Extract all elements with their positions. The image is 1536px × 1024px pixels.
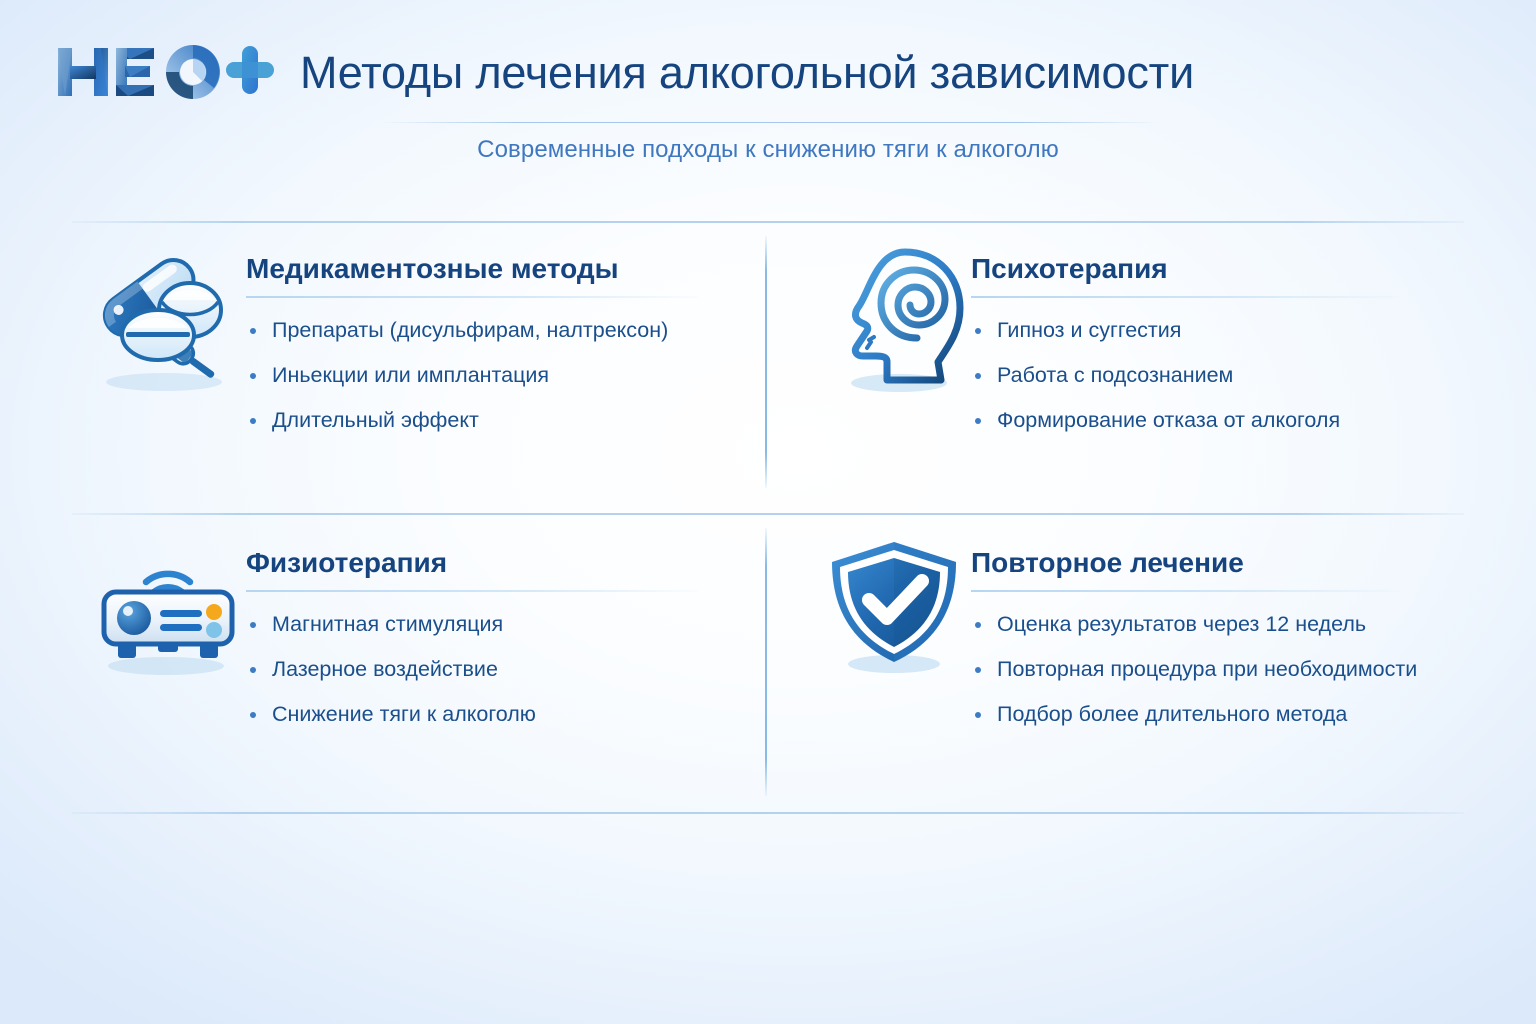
card-physiotherapy: Физиотерапия Магнитная стимуляция Лазерн…: [72, 512, 765, 806]
list-item: Подбор более длительного метода: [971, 700, 1464, 728]
card-bullet-list: Оценка результатов через 12 недель Повто…: [971, 592, 1464, 728]
logo-letter-e: [116, 48, 154, 96]
section-divider-bottom: [72, 812, 1464, 814]
card-title: Повторное лечение: [971, 546, 1464, 580]
card-title: Психотерапия: [971, 252, 1464, 286]
therapy-device-icon: [86, 534, 246, 694]
card-body: Медикаментозные методы Препараты (дисуль…: [246, 240, 765, 434]
brand-logo: [56, 38, 286, 104]
card-repeat-treatment: Повторное лечение Оценка результатов чер…: [771, 512, 1464, 806]
list-item: Магнитная стимуляция: [246, 610, 765, 638]
card-bullet-list: Препараты (дисульфирам, налтрексон) Инье…: [246, 298, 765, 434]
card-bullet-list: Магнитная стимуляция Лазерное воздействи…: [246, 592, 765, 728]
card-body: Психотерапия Гипноз и суггестия Работа с…: [971, 240, 1464, 434]
section-divider-top: [72, 221, 1464, 223]
page-title: Методы лечения алкогольной зависимости: [300, 44, 1400, 102]
list-item: Препараты (дисульфирам, налтрексон): [246, 316, 765, 344]
shield-check-icon: [821, 534, 971, 694]
card-body: Физиотерапия Магнитная стимуляция Лазерн…: [246, 534, 765, 728]
logo-letter-n: [58, 48, 108, 96]
pills-syringe-icon: [86, 240, 246, 400]
list-item: Гипноз и суггестия: [971, 316, 1464, 344]
logo-plus-icon: [226, 46, 274, 94]
tablet-scored-shape: [122, 310, 194, 360]
list-item: Лазерное воздействие: [246, 655, 765, 683]
card-title: Физиотерапия: [246, 546, 765, 580]
header-divider: [380, 122, 1160, 123]
list-item: Снижение тяги к алкоголю: [246, 700, 765, 728]
card-medication: Медикаментозные методы Препараты (дисуль…: [72, 240, 765, 512]
list-item: Длительный эффект: [246, 406, 765, 434]
infographic-poster: Методы лечения алкогольной зависимости С…: [0, 0, 1536, 1024]
logo-letter-o: [166, 45, 220, 99]
list-item: Повторная процедура при необходимости: [971, 655, 1464, 683]
list-item: Оценка результатов через 12 недель: [971, 610, 1464, 638]
page-subtitle: Современные подходы к снижению тяги к ал…: [0, 136, 1536, 164]
card-title: Медикаментозные методы: [246, 252, 765, 286]
card-psychotherapy: Психотерапия Гипноз и суггестия Работа с…: [771, 240, 1464, 512]
head-spiral-icon: [821, 240, 971, 400]
list-item: Иньекции или имплантация: [246, 361, 765, 389]
method-card-grid: Медикаментозные методы Препараты (дисуль…: [72, 240, 1464, 806]
card-bullet-list: Гипноз и суггестия Работа с подсознанием…: [971, 298, 1464, 434]
card-body: Повторное лечение Оценка результатов чер…: [971, 534, 1464, 728]
list-item: Формирование отказа от алкоголя: [971, 406, 1464, 434]
list-item: Работа с подсознанием: [971, 361, 1464, 389]
